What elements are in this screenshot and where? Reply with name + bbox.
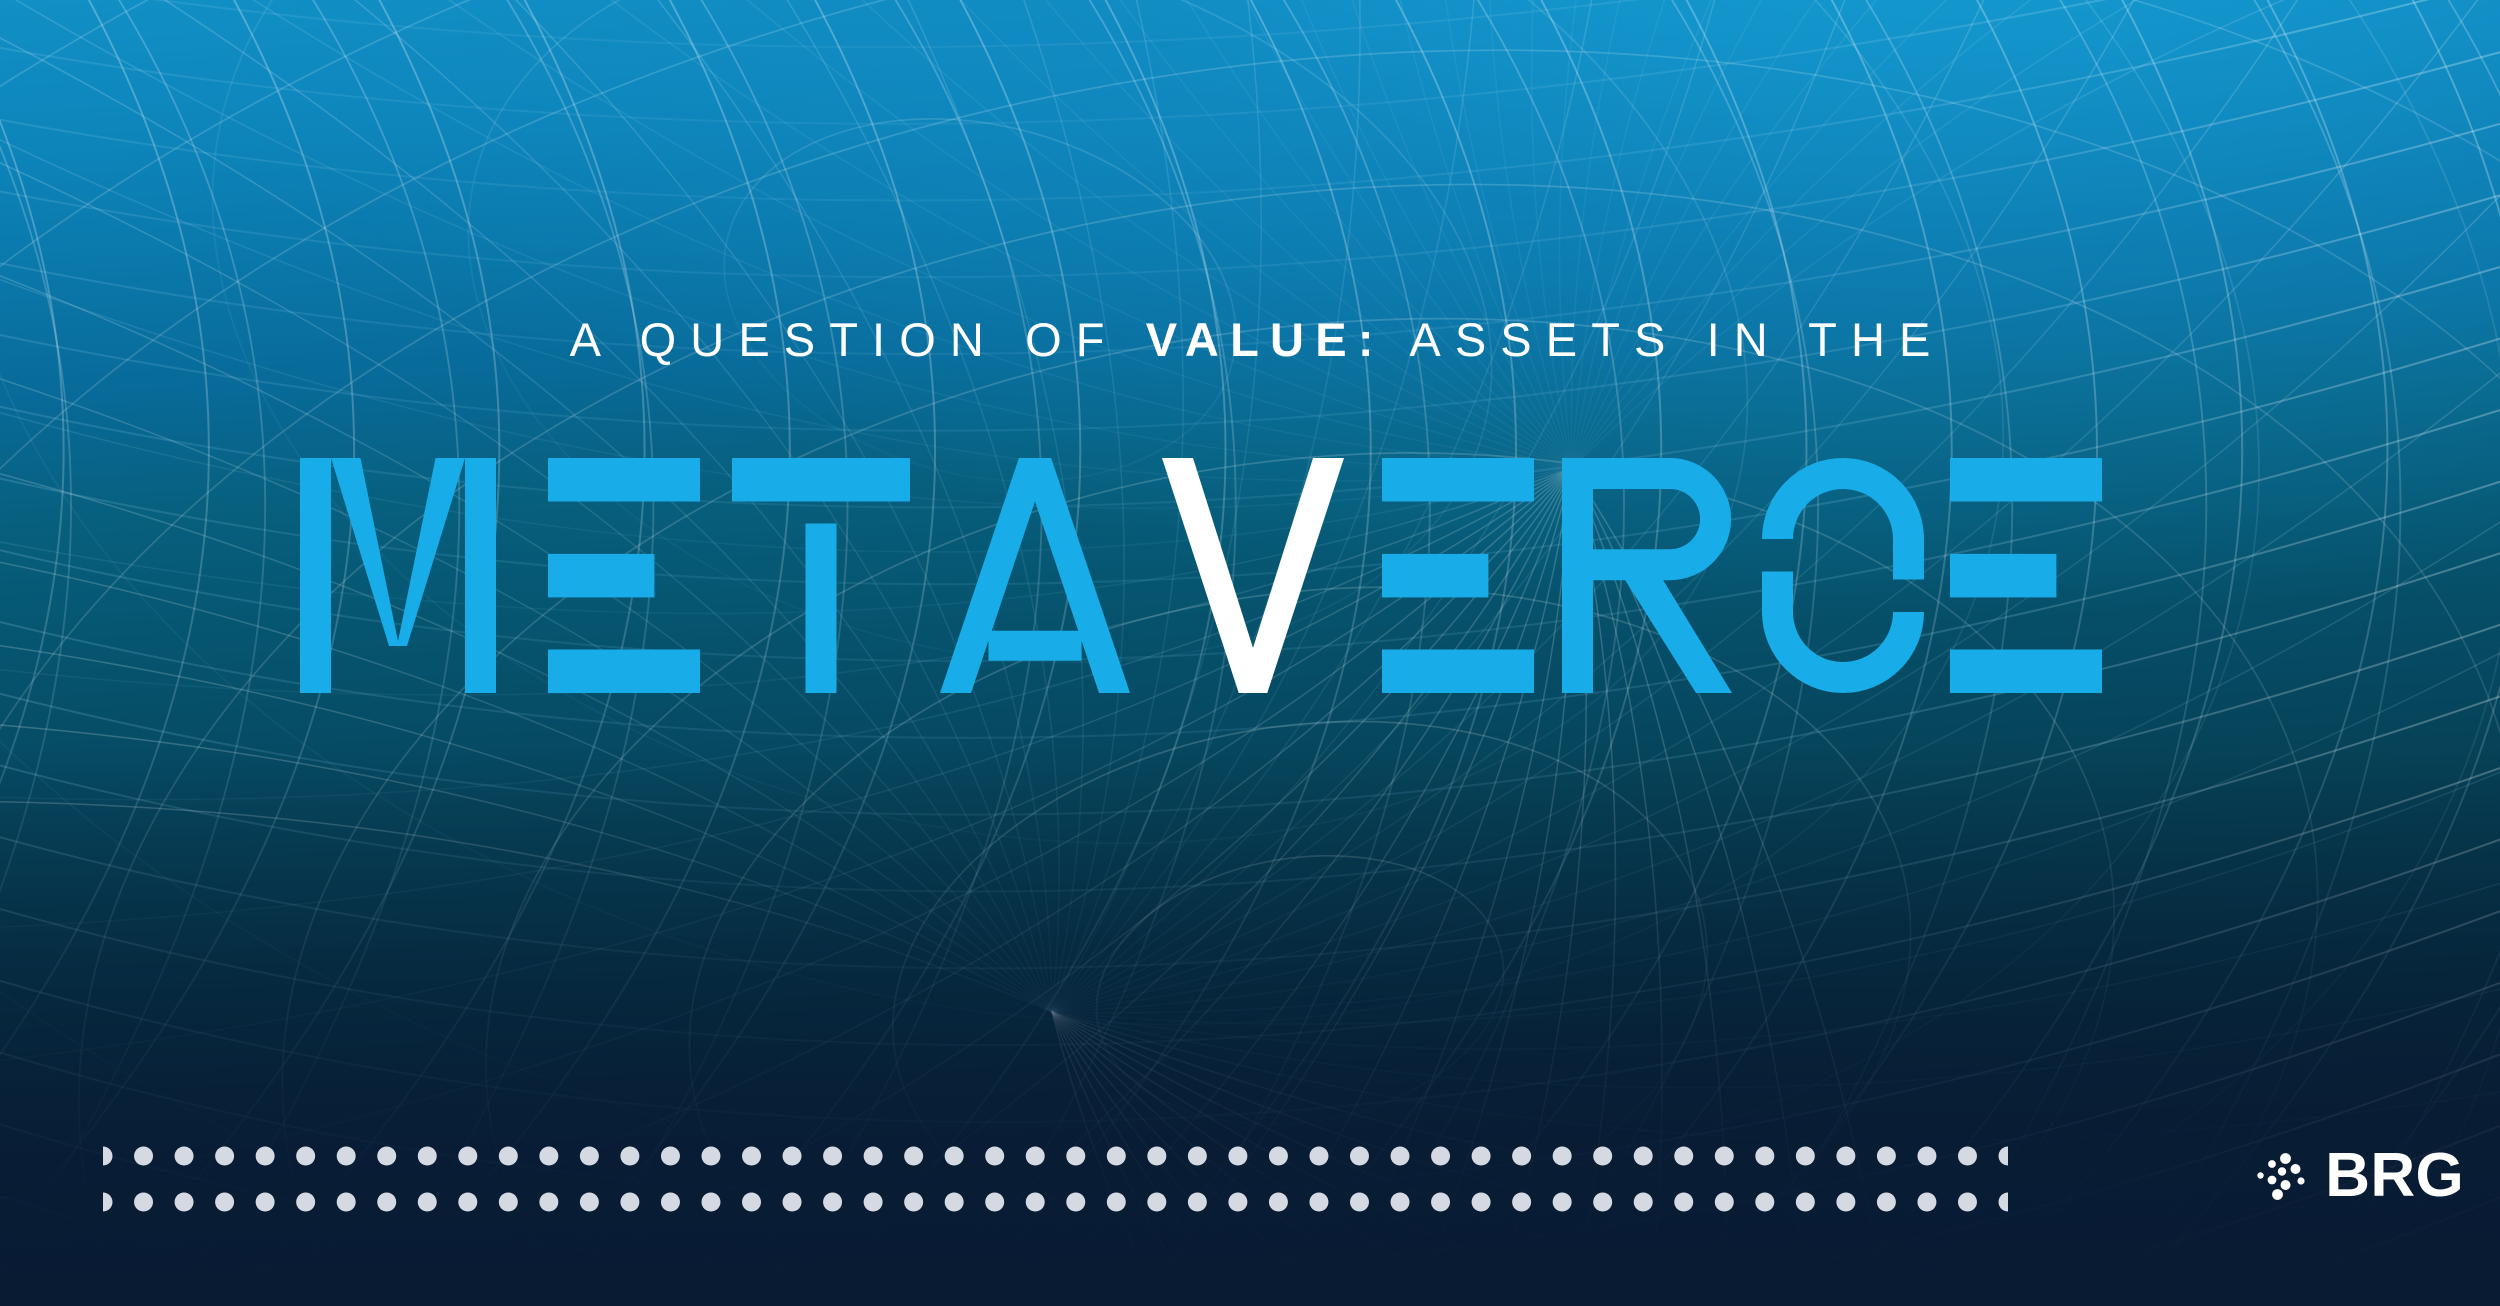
bottom-gradient-wash [0, 746, 2500, 1306]
kicker-emphasis: VALUE: [1146, 313, 1385, 366]
brg-dots-mark-icon [2253, 1147, 2311, 1205]
brg-wordmark-text: BRG [2325, 1145, 2464, 1207]
decorative-dot-strip [103, 1146, 2008, 1212]
kicker-part-after: ASSETS IN THE [1385, 313, 1945, 366]
kicker-part-before: A QUESTION OF [570, 313, 1146, 366]
poster-canvas: A QUESTION OF VALUE: ASSETS IN THE [0, 0, 2500, 1306]
page-title-metaverse [300, 458, 2230, 693]
poster-kicker: A QUESTION OF VALUE: ASSETS IN THE [0, 316, 2500, 363]
brg-logo[interactable]: BRG [2253, 1145, 2464, 1207]
